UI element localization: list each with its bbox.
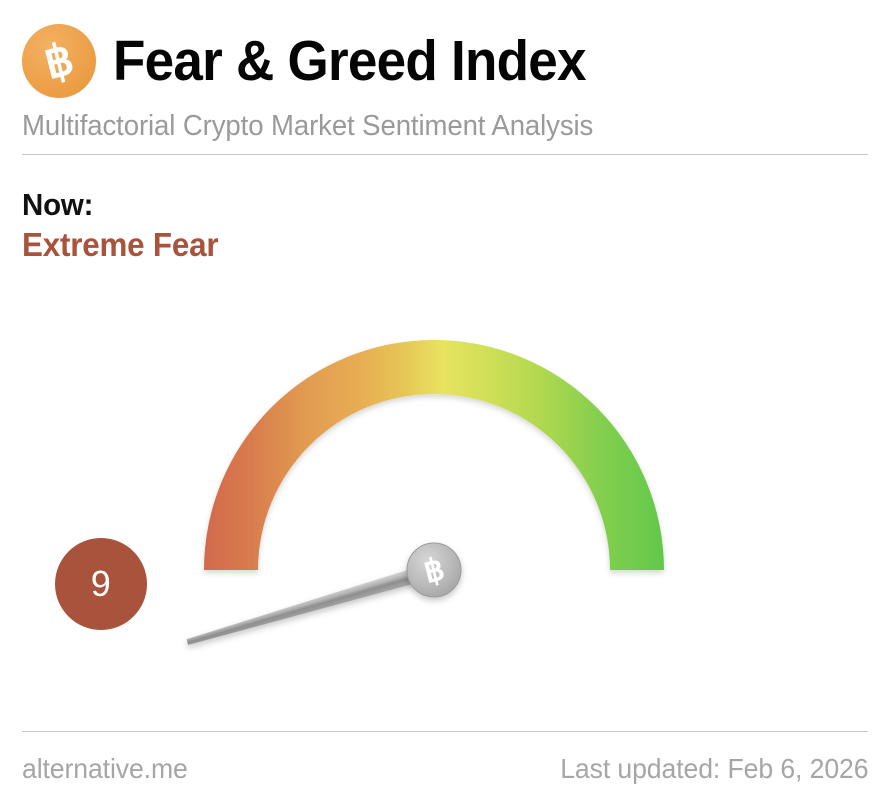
gauge-arc: [204, 340, 664, 570]
status-now-label: Now:: [22, 186, 218, 224]
fear-greed-index-card: ฿ Fear & Greed Index Multifactorial Cryp…: [0, 0, 890, 804]
gauge-needle: [185, 562, 436, 649]
last-updated-text: Last updated: Feb 6, 2026: [560, 752, 868, 786]
brand-row: ฿ Fear & Greed Index: [22, 22, 868, 100]
bitcoin-icon: ฿: [22, 24, 96, 98]
divider-top: [22, 154, 868, 155]
footer: alternative.me Last updated: Feb 6, 2026: [22, 752, 868, 786]
svg-text:฿: ฿: [40, 34, 79, 88]
header: ฿ Fear & Greed Index Multifactorial Cryp…: [22, 22, 868, 142]
divider-bottom: [22, 731, 868, 732]
gauge-value-badge: 9: [55, 538, 147, 630]
page-title: Fear & Greed Index: [113, 31, 586, 91]
status-block: Now: Extreme Fear: [22, 186, 229, 265]
needle-hub: ฿: [407, 543, 461, 597]
page-subtitle: Multifactorial Crypto Market Sentiment A…: [22, 109, 826, 143]
gauge-chart: ฿: [0, 268, 890, 708]
source-link[interactable]: alternative.me: [22, 752, 188, 786]
gauge-value: 9: [91, 566, 112, 602]
status-badge: Extreme Fear: [22, 224, 218, 265]
